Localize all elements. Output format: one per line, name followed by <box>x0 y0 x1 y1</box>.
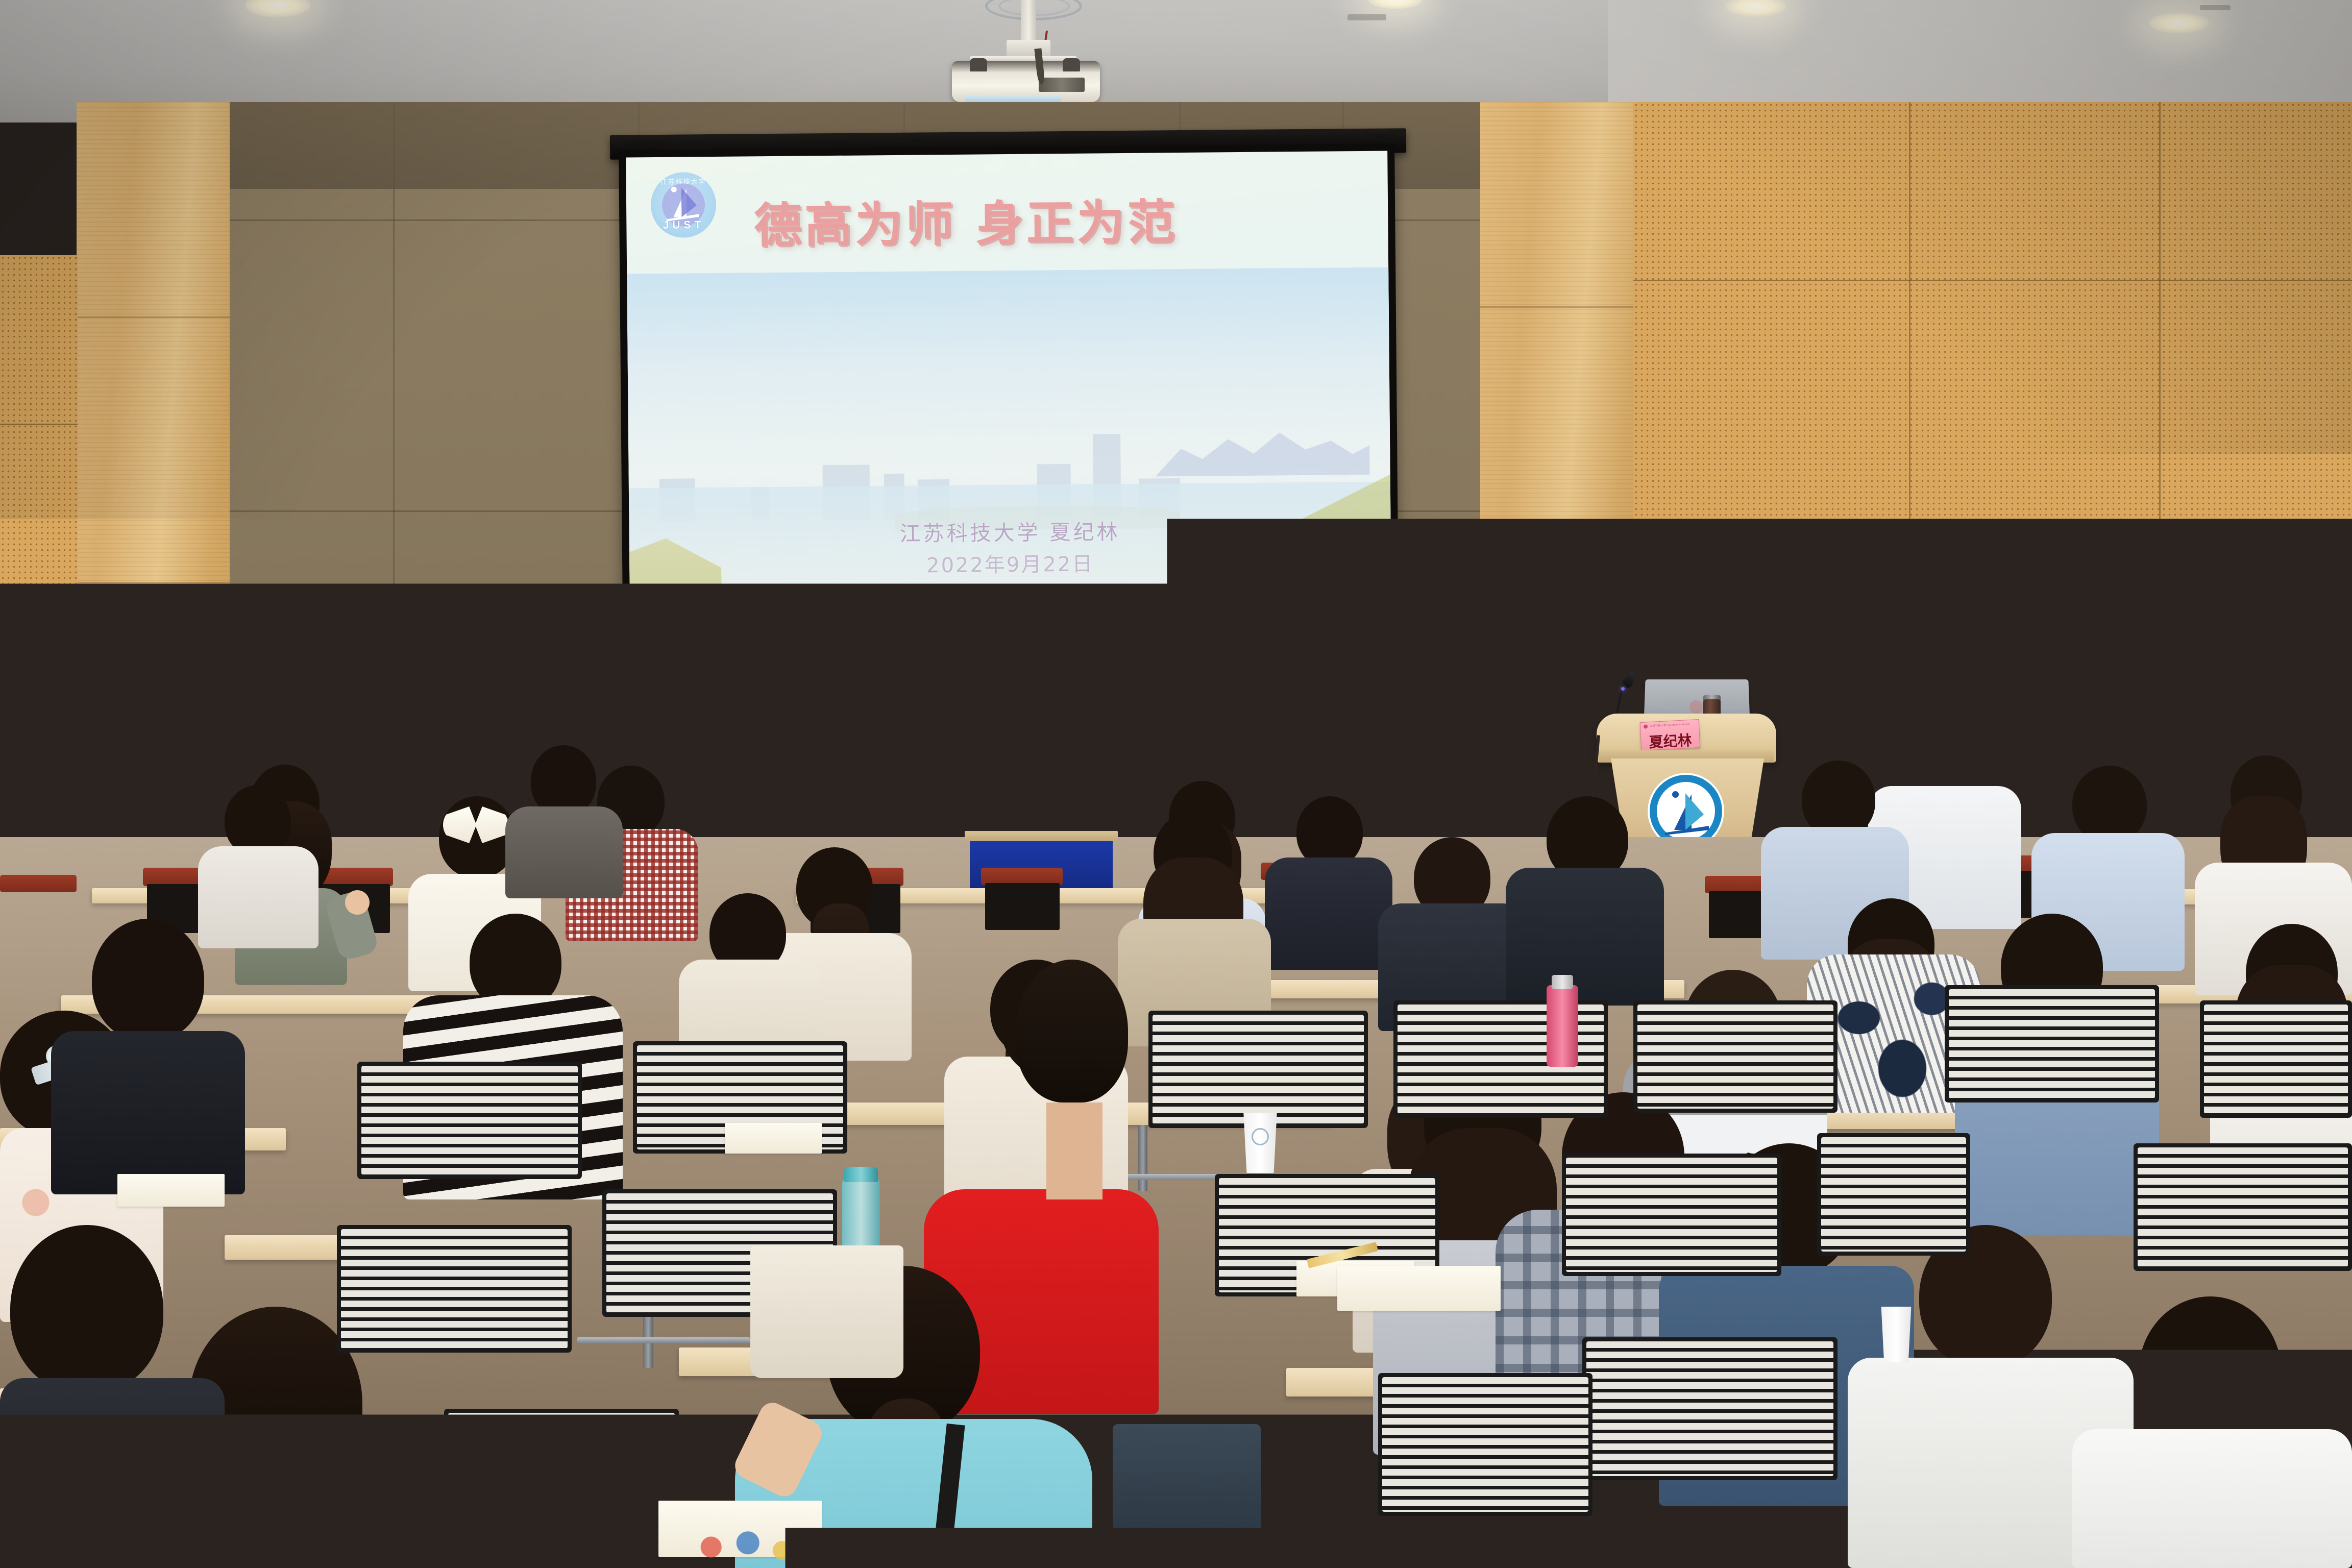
name-card-small-text: 江苏科技大学 sailboat emblem <box>1650 722 1690 728</box>
tote-bag-handle <box>258 999 365 1033</box>
person-head <box>225 785 291 856</box>
chair-14[interactable] <box>1582 1337 1837 1480</box>
pink-bottle-cap <box>1552 975 1573 989</box>
tote-bag-cream[interactable] <box>750 1245 903 1378</box>
person-torso <box>505 806 623 898</box>
notebook-1[interactable] <box>725 1123 822 1154</box>
rack-top-display-2 <box>2150 637 2175 644</box>
chair-9[interactable] <box>337 1225 572 1353</box>
chair-15[interactable] <box>1378 1373 1592 1516</box>
logo-dot <box>671 187 677 192</box>
desk-rail-2 <box>577 1337 750 1343</box>
chair-16[interactable] <box>444 1409 679 1562</box>
downlight-4 <box>2149 12 2209 34</box>
rack-top-display <box>2200 636 2231 644</box>
person-head <box>10 1225 163 1393</box>
emergency-exit-sign: 安全出口 EXIT <box>845 800 958 833</box>
ceiling-vent-1 <box>1347 14 1386 20</box>
person-head <box>1296 796 1363 868</box>
laptop-logo <box>1689 700 1703 714</box>
acoustic-panel-far-left <box>0 255 78 888</box>
person-torso <box>0 1378 225 1568</box>
teal-bottle-cap <box>844 1167 878 1182</box>
rack-display-text-2: ▪▪▪▪ ▪▪▪▪▪ <box>2169 830 2197 835</box>
person-torso <box>198 846 318 948</box>
exit-sign-face: 安全出口 EXIT <box>849 804 953 829</box>
shoulder-bag-dark[interactable] <box>1113 1424 1261 1568</box>
exit-sign-english: EXIT <box>890 816 913 823</box>
ceiling-vent-2 <box>2200 5 2231 10</box>
bag-pattern-colorful <box>689 1526 812 1568</box>
chair-13[interactable] <box>2134 1143 2352 1271</box>
speaker-hair-front <box>1714 574 1763 596</box>
person-torso <box>2072 1429 2352 1568</box>
chair-5[interactable] <box>1633 1000 1837 1113</box>
chair-3[interactable] <box>1148 1011 1368 1128</box>
chair-12[interactable] <box>1817 1133 1970 1256</box>
projector-ports <box>1039 78 1085 92</box>
person-head <box>531 745 596 817</box>
notebook-2[interactable] <box>117 1174 225 1207</box>
person-head <box>1016 960 1128 1102</box>
wood-panel-right <box>1480 102 1633 888</box>
running-man-icon <box>869 809 887 824</box>
lecture-hall-photo: 江苏科技大学 JUST 德高为师 身正为范 江苏科技大学 夏纪林 2022年9月… <box>0 0 2352 1568</box>
person-neck <box>1046 1102 1102 1199</box>
exit-arrow-tail <box>859 815 866 819</box>
person-hand <box>345 890 370 915</box>
wall-mounted-display <box>1429 571 1557 620</box>
desk-leg-1 <box>1138 1125 1147 1191</box>
paper-cup-1-logo <box>1252 1128 1269 1145</box>
front-chair-red-8[interactable] <box>0 875 77 892</box>
projector-knob-left <box>970 58 987 71</box>
slide-title: 德高为师 身正为范 <box>754 183 1204 256</box>
person-torso <box>1265 857 1392 970</box>
chair-11[interactable] <box>1562 1154 1781 1276</box>
podium-mic-led <box>1621 687 1625 691</box>
person-torso <box>1506 868 1664 1006</box>
rack-side-rail <box>2160 650 2164 844</box>
front-chair-red-4[interactable] <box>981 868 1063 885</box>
person-head <box>2072 766 2147 843</box>
person-head <box>92 919 204 1041</box>
podium-logo-dot <box>1672 791 1679 798</box>
projector-knob-right <box>1063 58 1080 71</box>
speaker-name-card: 江苏科技大学 sailboat emblem 夏纪林 <box>1640 719 1701 751</box>
projection-screen: 江苏科技大学 JUST 德高为师 身正为范 江苏科技大学 夏纪林 2022年9月… <box>626 151 1391 599</box>
person-head <box>1914 715 1991 795</box>
wood-panel-left <box>77 102 230 878</box>
projection-screen-frame: 江苏科技大学 JUST 德高为师 身正为范 江苏科技大学 夏纪林 2022年9月… <box>619 143 1399 609</box>
rack-unit-2 <box>2149 692 2276 728</box>
pink-water-bottle[interactable] <box>1547 985 1578 1067</box>
front-table-top <box>965 831 1118 841</box>
rack-display-text: ▪▪▪▪ ▪▪▪▪▪▪ <box>2169 823 2200 828</box>
rack-unit-1 <box>2149 656 2276 677</box>
paper-cup-2[interactable] <box>1878 1307 1914 1362</box>
logo-acronym: JUST <box>651 219 716 232</box>
front-chair-red-4-pad <box>985 883 1060 930</box>
chair-7[interactable] <box>2200 1000 2352 1118</box>
projector-swivel <box>1007 40 1050 57</box>
chair-6[interactable] <box>1945 985 2159 1102</box>
just-logo: 江苏科技大学 JUST <box>650 172 716 238</box>
person-torso <box>51 1031 245 1194</box>
name-card-logo <box>1644 724 1648 728</box>
person-head <box>2139 1296 2282 1450</box>
rack-led-blue <box>2170 761 2175 765</box>
speaker-name: 夏纪林 <box>1641 729 1700 752</box>
tote-bag-olive[interactable] <box>230 1021 398 1184</box>
notepad-right[interactable] <box>1337 1266 1501 1311</box>
person-head <box>439 796 516 878</box>
